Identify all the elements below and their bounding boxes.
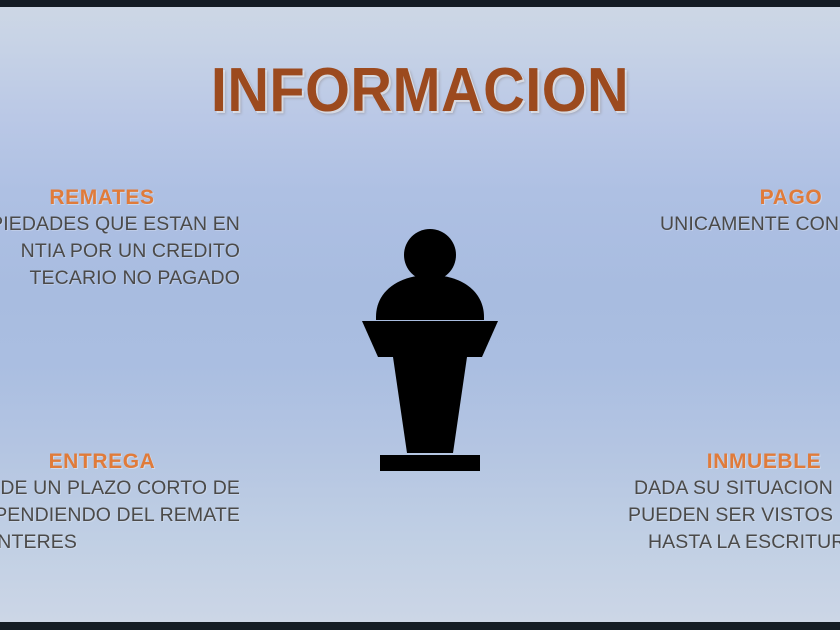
- text-block-inmuebles: INMUEBLE DADA SU SITUACION PUEDEN SER VI…: [628, 449, 840, 556]
- letterbox-bar-bottom: [0, 622, 840, 630]
- block-line: PUEDEN SER VISTOS PO: [628, 502, 840, 529]
- text-block-entrega: ENTREGA DE UN PLAZO CORTO DE EPENDIENDO …: [0, 449, 240, 556]
- block-line: DE UN PLAZO CORTO DE: [0, 475, 240, 502]
- podium-speaker-glyph: [352, 221, 508, 479]
- block-line: HASTA LA ESCRITUR: [628, 529, 840, 556]
- block-line: DADA SU SITUACION: [628, 475, 840, 502]
- block-heading-inmuebles: INMUEBLE: [628, 449, 840, 475]
- podium-speaker-icon: [352, 221, 508, 479]
- block-heading-entrega: ENTREGA: [0, 449, 240, 475]
- block-line: EPENDIENDO DEL REMATE: [0, 502, 240, 529]
- letterbox-bar-top: [0, 0, 840, 7]
- text-block-pago: PAGO UNICAMENTE CON: [660, 185, 840, 238]
- block-line: NTIA POR UN CREDITO: [0, 238, 240, 265]
- text-block-remates: REMATES PIEDADES QUE ESTAN EN NTIA POR U…: [0, 185, 240, 292]
- block-line: DE INTERES: [0, 529, 240, 556]
- block-line: UNICAMENTE CON: [660, 211, 840, 238]
- slide-canvas: INFORMACION REMATES PIEDADES QUE ESTAN E…: [0, 0, 840, 630]
- block-heading-pago: PAGO: [660, 185, 840, 211]
- page-title: INFORMACION: [29, 55, 810, 126]
- block-heading-remates: REMATES: [0, 185, 240, 211]
- slide-background: INFORMACION REMATES PIEDADES QUE ESTAN E…: [0, 7, 840, 622]
- block-line: PIEDADES QUE ESTAN EN: [0, 211, 240, 238]
- block-line: TECARIO NO PAGADO: [0, 265, 240, 292]
